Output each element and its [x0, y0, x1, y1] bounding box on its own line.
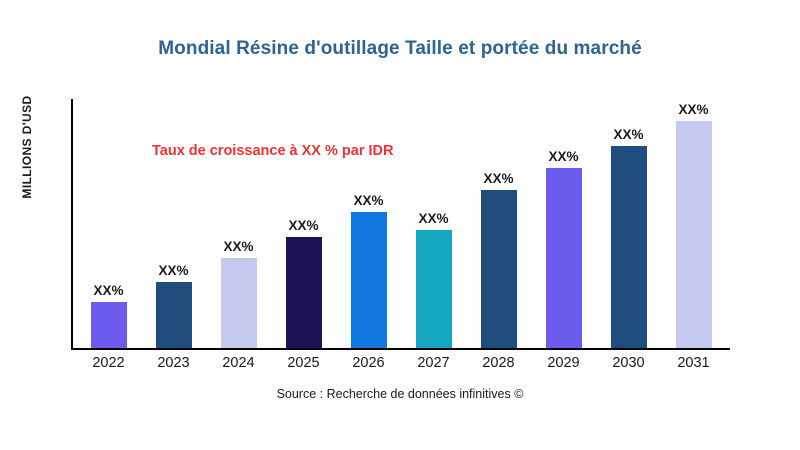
bar-value-label: XX% — [613, 127, 643, 142]
bar-value-label: XX% — [288, 218, 318, 233]
bar-group[interactable]: XX% — [76, 99, 141, 348]
bar-group[interactable]: XX% — [141, 99, 206, 348]
bar-group[interactable]: XX% — [596, 99, 661, 348]
bar-group[interactable]: XX% — [271, 99, 336, 348]
bar-2024[interactable] — [221, 258, 257, 348]
bar-group[interactable]: XX% — [531, 99, 596, 348]
bar-value-label: XX% — [158, 263, 188, 278]
x-tick-2029: 2029 — [531, 355, 596, 371]
bar-2026[interactable] — [351, 212, 387, 348]
x-tick-2024: 2024 — [206, 355, 271, 371]
x-axis-tick-labels: 2022202320242025202620272028202920302031 — [71, 355, 800, 379]
x-tick-2030: 2030 — [596, 355, 661, 371]
bar-group[interactable]: XX% — [206, 99, 271, 348]
x-tick-2023: 2023 — [141, 355, 206, 371]
x-tick-2022: 2022 — [76, 355, 141, 371]
bar-group[interactable]: XX% — [336, 99, 401, 348]
bar-value-label: XX% — [223, 239, 253, 254]
x-tick-2026: 2026 — [336, 355, 401, 371]
bar-group[interactable]: XX% — [661, 99, 726, 348]
bar-2029[interactable] — [546, 168, 582, 348]
bar-value-label: XX% — [353, 193, 383, 208]
bar-series: XX%XX%XX%XX%XX%XX%XX%XX%XX%XX% — [71, 99, 800, 348]
bar-chart: Mondial Résine d'outillage Taille et por… — [0, 0, 800, 450]
plot-area: XX%XX%XX%XX%XX%XX%XX%XX%XX%XX% — [71, 99, 800, 350]
bar-2027[interactable] — [416, 230, 452, 348]
bar-value-label: XX% — [418, 211, 448, 226]
x-axis-line — [71, 348, 730, 350]
source-note: Source : Recherche de données infinitive… — [0, 387, 800, 401]
bar-2025[interactable] — [286, 237, 322, 348]
bar-value-label: XX% — [483, 171, 513, 186]
bar-value-label: XX% — [93, 283, 123, 298]
page-title: Mondial Résine d'outillage Taille et por… — [0, 38, 800, 60]
bar-group[interactable]: XX% — [466, 99, 531, 348]
x-tick-2031: 2031 — [661, 355, 726, 371]
bar-2031[interactable] — [676, 121, 712, 348]
bar-value-label: XX% — [548, 149, 578, 164]
x-tick-2028: 2028 — [466, 355, 531, 371]
y-axis-label: MILLIONS D'USD — [20, 47, 34, 247]
bar-2023[interactable] — [156, 282, 192, 348]
x-tick-2025: 2025 — [271, 355, 336, 371]
x-tick-2027: 2027 — [401, 355, 466, 371]
bar-group[interactable]: XX% — [401, 99, 466, 348]
bar-value-label: XX% — [678, 102, 708, 117]
bar-2022[interactable] — [91, 302, 127, 348]
growth-rate-annotation: Taux de croissance à XX % par IDR — [152, 143, 394, 159]
bar-2028[interactable] — [481, 190, 517, 348]
bar-2030[interactable] — [611, 146, 647, 348]
